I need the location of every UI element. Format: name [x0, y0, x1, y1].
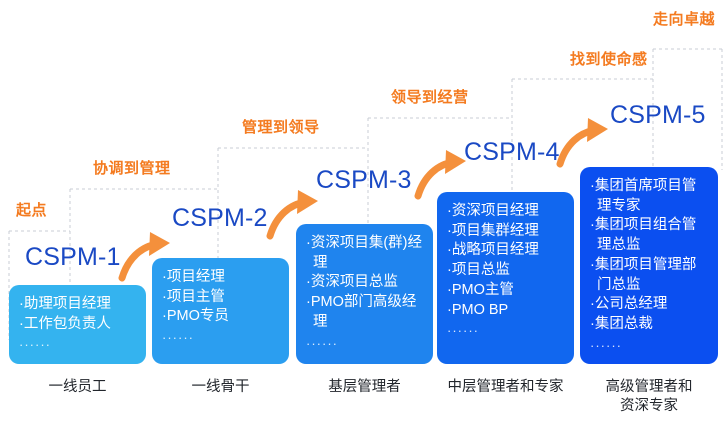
transition-label-2: 协调到管理 — [93, 161, 171, 176]
level-title-cspm-1: CSPM-1 — [25, 245, 121, 270]
transition-label-4: 领导到经营 — [391, 90, 469, 105]
caption-cspm-5: 高级管理者和 资深专家 — [580, 378, 718, 416]
card-item: ·集团项目组合管理总监 — [590, 216, 710, 255]
card-item: ·项目主管 — [162, 288, 281, 308]
transition-label-1: 起点 — [16, 203, 47, 218]
level-card-cspm-5[interactable]: ·集团首席项目管理专家 ·集团项目组合管理总监 ·集团项目管理部门总监 ·公司总… — [580, 167, 718, 364]
card-ellipsis: ······ — [590, 337, 710, 355]
card-ellipsis: ······ — [162, 329, 281, 347]
caption-cspm-3: 基层管理者 — [296, 378, 433, 397]
transition-arrow-4-icon — [556, 118, 616, 170]
card-item: ·工作包负责人 — [19, 315, 138, 335]
transition-label-3: 管理到领导 — [242, 120, 320, 135]
card-item: ·项目总监 — [447, 261, 566, 281]
card-item: ·PMO部门高级经理 — [306, 293, 425, 332]
card-item: ·PMO主管 — [447, 281, 566, 301]
cspm-career-ladder-diagram: 起点 协调到管理 管理到领导 领导到经营 找到使命感 走向卓越 CSPM-1 C… — [0, 0, 726, 439]
card-item: ·战略项目经理 — [447, 241, 566, 261]
level-title-cspm-2: CSPM-2 — [172, 206, 268, 231]
caption-cspm-4: 中层管理者和专家 — [432, 378, 579, 397]
level-card-cspm-3[interactable]: ·资深项目集(群)经理 ·资深项目总监 ·PMO部门高级经理 ······ — [296, 224, 433, 364]
card-ellipsis: ······ — [447, 322, 566, 340]
card-item: ·PMO BP — [447, 301, 566, 321]
transition-label-top: 走向卓越 — [653, 12, 715, 27]
level-title-cspm-3: CSPM-3 — [316, 168, 412, 193]
caption-cspm-2: 一线骨干 — [152, 378, 289, 397]
card-item: ·PMO专员 — [162, 307, 281, 327]
card-ellipsis: ······ — [19, 336, 138, 354]
level-card-cspm-2[interactable]: ·项目经理 ·项目主管 ·PMO专员 ······ — [152, 258, 289, 364]
level-title-cspm-5: CSPM-5 — [610, 103, 706, 128]
card-item: ·资深项目集(群)经理 — [306, 234, 425, 273]
card-item: ·项目集群经理 — [447, 222, 566, 242]
card-item: ·集团总裁 — [590, 315, 710, 335]
card-item: ·公司总经理 — [590, 295, 710, 315]
card-item: ·资深项目总监 — [306, 273, 425, 293]
card-ellipsis: ······ — [306, 335, 425, 353]
card-item: ·助理项目经理 — [19, 295, 138, 315]
level-card-cspm-4[interactable]: ·资深项目经理 ·项目集群经理 ·战略项目经理 ·项目总监 ·PMO主管 ·PM… — [437, 192, 574, 364]
card-item: ·集团首席项目管理专家 — [590, 177, 710, 216]
card-item: ·集团项目管理部门总监 — [590, 256, 710, 295]
card-item: ·资深项目经理 — [447, 202, 566, 222]
card-item: ·项目经理 — [162, 268, 281, 288]
transition-label-5: 找到使命感 — [570, 52, 648, 67]
level-card-cspm-1[interactable]: ·助理项目经理 ·工作包负责人 ······ — [9, 285, 146, 364]
caption-cspm-1: 一线员工 — [9, 378, 146, 397]
level-title-cspm-4: CSPM-4 — [464, 140, 560, 165]
